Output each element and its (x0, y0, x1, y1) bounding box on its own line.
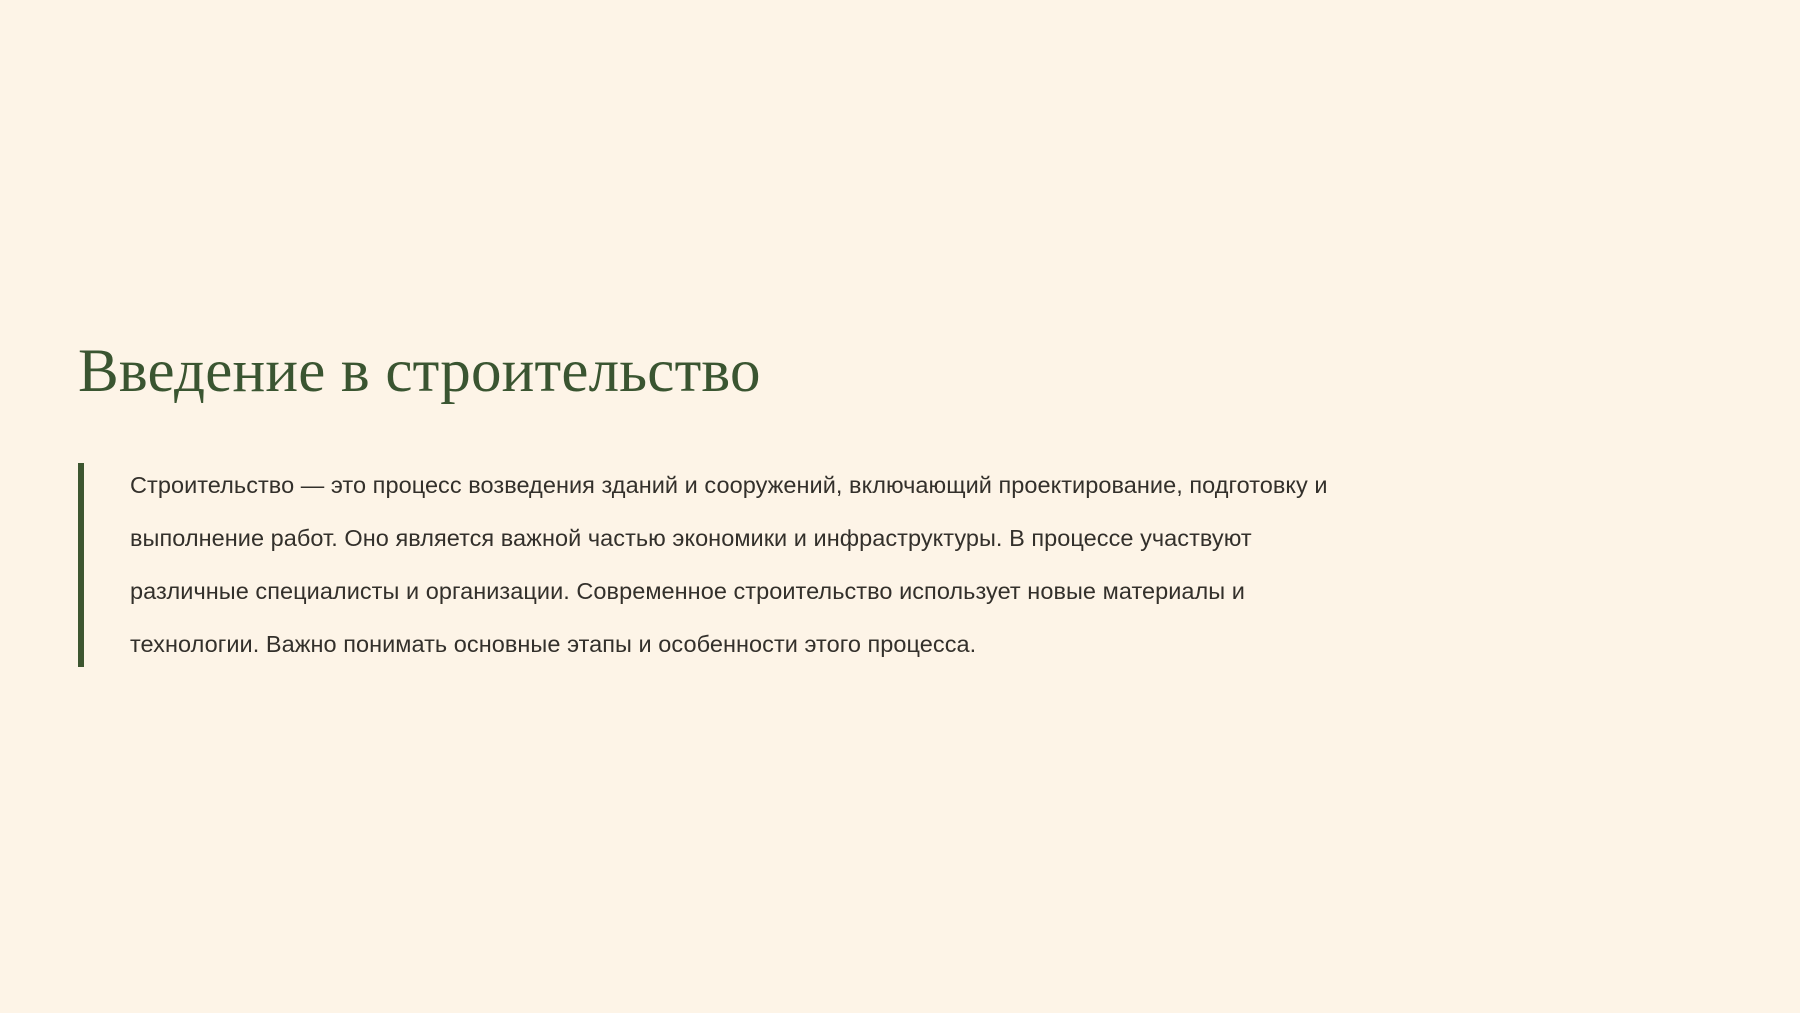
body-paragraph-line: выполнение работ. Оно является важной ча… (130, 512, 1730, 565)
body-paragraph-line: различные специалисты и организации. Сов… (130, 565, 1730, 618)
body-paragraph-line: Строительство — это процесс возведения з… (130, 459, 1730, 512)
content-block: Введение в строительство Строительство —… (78, 340, 1738, 671)
page-title: Введение в строительство (78, 340, 1738, 404)
slide-canvas: Введение в строительство Строительство —… (0, 0, 1800, 1013)
body-paragraph: Строительство — это процесс возведения з… (130, 459, 1730, 671)
left-accent-bar (78, 463, 84, 667)
body-paragraph-line: технологии. Важно понимать основные этап… (130, 618, 1730, 671)
body-block: Строительство — это процесс возведения з… (78, 459, 1738, 671)
